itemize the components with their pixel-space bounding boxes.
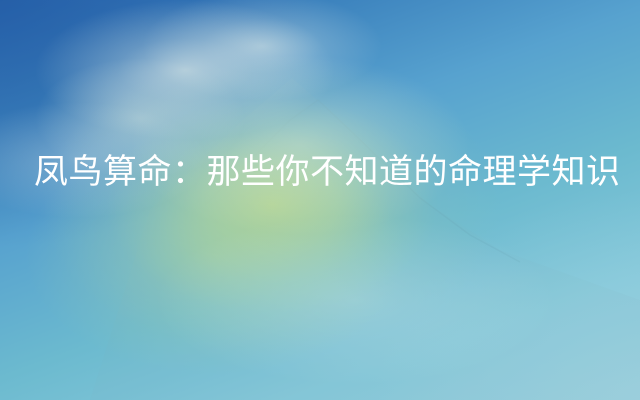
headline-text: 凤鸟算命：那些你不知道的命理学知识 bbox=[34, 142, 624, 202]
banner-image: 凤鸟算命：那些你不知道的命理学知识 bbox=[0, 0, 640, 400]
